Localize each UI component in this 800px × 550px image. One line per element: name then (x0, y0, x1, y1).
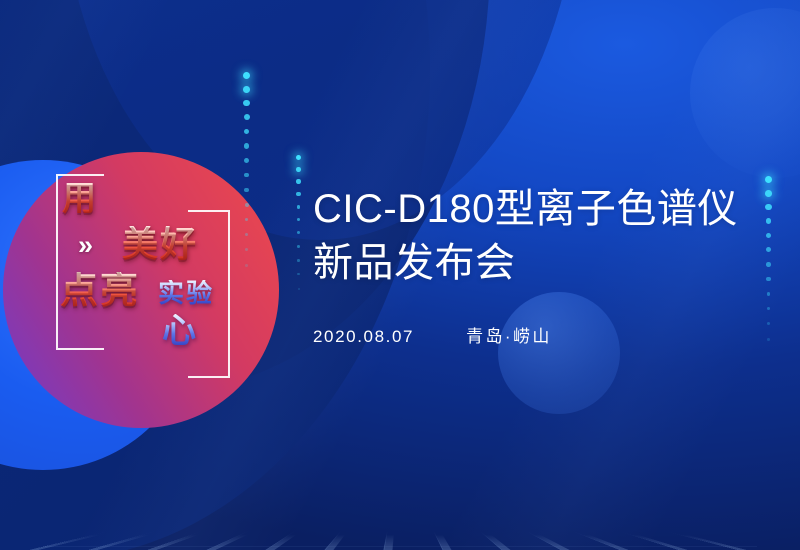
event-location: 青岛·崂山 (466, 322, 552, 347)
stream-dot (244, 173, 249, 178)
perspective-grid-dashes (0, 532, 800, 550)
stream-dot (245, 203, 249, 207)
stream-dot (243, 100, 249, 106)
stream-dot (245, 233, 248, 236)
stream-dot (297, 205, 301, 209)
stream-dot (245, 218, 249, 222)
stream-dot (296, 167, 301, 172)
event-date: 2020.08.07 (313, 327, 414, 347)
stream-dot (297, 218, 300, 221)
stream-dot (243, 72, 250, 79)
stream-dot (243, 86, 250, 93)
slogan-word-3: 点亮 (60, 272, 140, 310)
main-content: CIC-D180型离子色谱仪 新品发布会 2020.08.07 青岛·崂山 (313, 182, 783, 347)
stream-dot (244, 158, 249, 163)
stream-dot (297, 245, 300, 248)
stream-dot (296, 179, 300, 183)
slogan-word-2: 美好 (122, 226, 198, 262)
page-title-line2: 新品发布会 (313, 236, 783, 290)
stream-dot (245, 248, 248, 251)
double-chevron-icon: » (78, 230, 90, 261)
stream-dot (296, 192, 300, 196)
dot-stream-left (243, 72, 250, 280)
poster-canvas: 用 美好 » 点亮 实验 心 CIC-D180型离子色谱仪 新品发布会 2020… (0, 0, 800, 550)
stream-dot (296, 155, 301, 160)
dot-stream-mid (296, 155, 301, 303)
stream-dot (298, 288, 300, 290)
slogan-word-4: 实验 (158, 280, 214, 306)
stream-dot (244, 188, 248, 192)
decor-circle-topright (690, 8, 800, 178)
page-title-line1: CIC-D180型离子色谱仪 (313, 182, 783, 236)
stream-dot (244, 129, 250, 135)
stream-dot (297, 259, 300, 262)
slogan-badge: 用 美好 » 点亮 实验 心 (46, 168, 236, 368)
stream-dot (297, 231, 300, 234)
stream-dot (245, 264, 248, 267)
slogan-word-5: 心 (162, 314, 198, 348)
event-meta: 2020.08.07 青岛·崂山 (313, 322, 783, 347)
slogan-word-1: 用 (62, 182, 98, 216)
stream-dot (297, 273, 299, 275)
perspective-floor-grid (0, 532, 800, 550)
stream-dot (244, 114, 250, 120)
stream-dot (244, 143, 249, 148)
